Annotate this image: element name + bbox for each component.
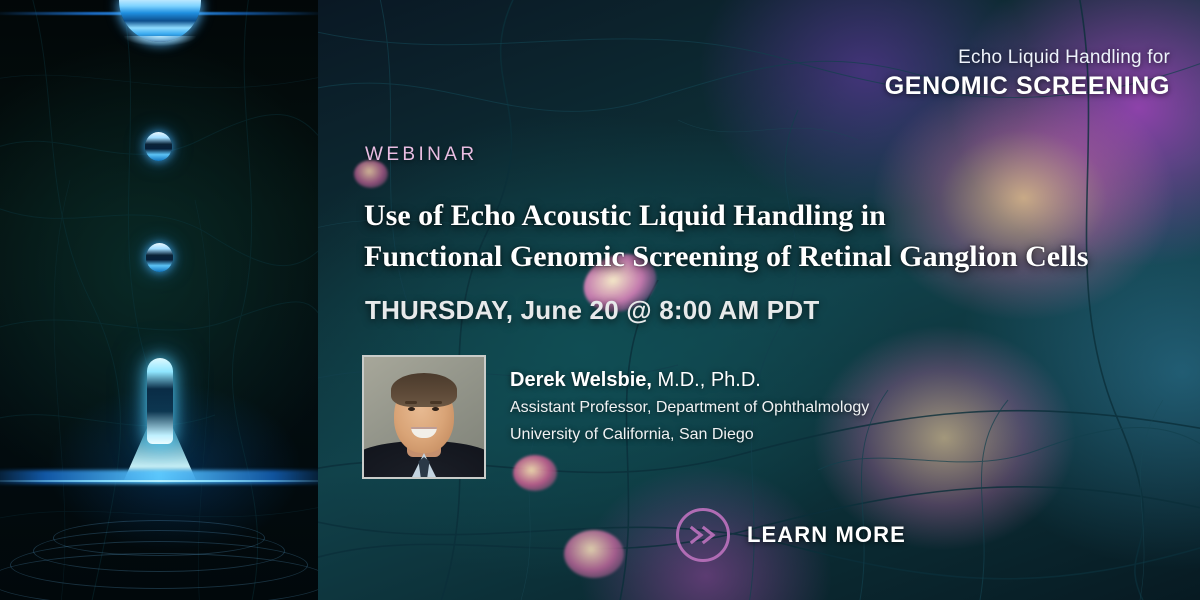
speaker-details: Derek Welsbie, M.D., Ph.D. Assistant Pro… <box>510 355 869 446</box>
left-panel-fiber-texture <box>0 0 318 600</box>
webinar-title-line-2: Functional Genomic Screening of Retinal … <box>364 236 1194 277</box>
brand-tagline: Echo Liquid Handling for <box>885 48 1170 69</box>
webinar-promo-banner: Echo Liquid Handling for GENOMIC SCREENI… <box>0 0 1200 600</box>
droplet-small-upper <box>145 132 172 161</box>
droplet-small-lower <box>146 243 173 272</box>
droplet-large-meniscus <box>119 0 201 42</box>
left-panel-droplet-image <box>0 0 318 600</box>
ripple-ring-4 <box>0 553 318 600</box>
brand-lockup: Echo Liquid Handling for GENOMIC SCREENI… <box>885 48 1170 102</box>
eyebrow-webinar-label: WEBINAR <box>365 144 477 166</box>
double-chevron-right-icon[interactable] <box>676 508 730 562</box>
speaker-role-line-1: Assistant Professor, Department of Ophth… <box>510 397 869 420</box>
webinar-title-line-1: Use of Echo Acoustic Liquid Handling in <box>364 199 886 232</box>
learn-more-label[interactable]: LEARN MORE <box>747 522 906 548</box>
webinar-datetime: THURSDAY, June 20 @ 8:00 AM PDT <box>365 295 819 326</box>
speaker-role-line-2: University of California, San Diego <box>510 424 869 447</box>
speaker-headshot-photo <box>362 355 486 479</box>
speaker-name: Derek Welsbie, <box>510 369 652 391</box>
speaker-credentials: M.D., Ph.D. <box>652 369 761 391</box>
webinar-title: Use of Echo Acoustic Liquid Handling in … <box>364 195 1194 277</box>
acoustic-liquid-jet <box>124 358 196 480</box>
liquid-surface-line <box>0 480 318 482</box>
banner-content-overlay: Echo Liquid Handling for GENOMIC SCREENI… <box>318 0 1200 600</box>
learn-more-button[interactable]: LEARN MORE <box>676 508 906 562</box>
speaker-name-line: Derek Welsbie, M.D., Ph.D. <box>510 368 869 393</box>
brand-headline: GENOMIC SCREENING <box>885 71 1170 102</box>
speaker-block: Derek Welsbie, M.D., Ph.D. Assistant Pro… <box>362 355 869 479</box>
